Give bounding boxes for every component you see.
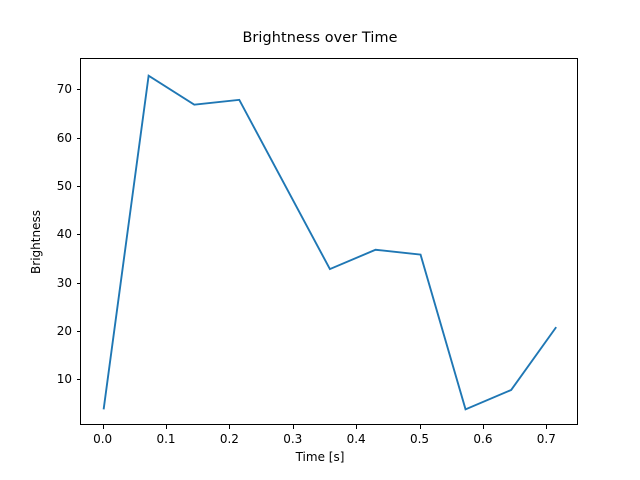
figure-canvas: Brightness over Time Brightness Time [s]… [0, 0, 640, 480]
line-series-svg [81, 59, 579, 426]
x-tick-mark [546, 425, 547, 429]
x-tick-label: 0.3 [283, 432, 302, 446]
y-tick-label: 70 [28, 82, 72, 96]
x-tick-label: 0.6 [473, 432, 492, 446]
y-tick-mark [77, 331, 81, 332]
x-tick-label: 0.2 [220, 432, 239, 446]
y-tick-mark [77, 89, 81, 90]
y-tick-label: 30 [28, 276, 72, 290]
x-tick-label: 0.5 [410, 432, 429, 446]
x-tick-label: 0.4 [347, 432, 366, 446]
y-tick-mark [77, 138, 81, 139]
x-tick-mark [229, 425, 230, 429]
x-tick-mark [356, 425, 357, 429]
y-tick-label: 50 [28, 179, 72, 193]
y-tick-mark [77, 379, 81, 380]
y-tick-mark [77, 186, 81, 187]
y-tick-label: 20 [28, 324, 72, 338]
y-tick-label: 60 [28, 131, 72, 145]
y-tick-mark [77, 234, 81, 235]
x-tick-mark [420, 425, 421, 429]
chart-title: Brightness over Time [0, 30, 640, 46]
y-tick-label: 40 [28, 227, 72, 241]
plot-area [80, 58, 578, 425]
x-tick-label: 0.0 [93, 432, 112, 446]
brightness-line [104, 76, 557, 410]
x-tick-label: 0.1 [156, 432, 175, 446]
x-axis-label: Time [s] [0, 450, 640, 464]
x-tick-mark [103, 425, 104, 429]
y-tick-label: 10 [28, 372, 72, 386]
y-tick-mark [77, 283, 81, 284]
x-tick-mark [293, 425, 294, 429]
x-tick-mark [166, 425, 167, 429]
y-axis-label: Brightness [29, 210, 43, 274]
x-tick-label: 0.7 [537, 432, 556, 446]
x-tick-mark [483, 425, 484, 429]
